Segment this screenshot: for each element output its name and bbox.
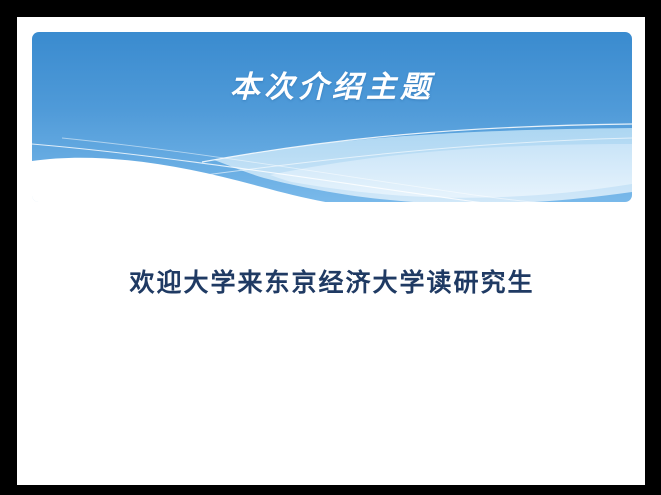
wave-banner-graphic [32, 32, 632, 202]
slide-body-text-block: 欢迎大学来东京经济大学读研究生 [72, 267, 592, 300]
presentation-letterbox-frame: 本次介绍主题 欢迎大学来东京经济大学读研究生 [0, 0, 661, 495]
slide-title: 本次介绍主题 [32, 69, 632, 107]
slide-canvas: 本次介绍主题 欢迎大学来东京经济大学读研究生 [17, 17, 645, 485]
slide-body-line: 欢迎大学来东京经济大学读研究生 [129, 267, 534, 300]
